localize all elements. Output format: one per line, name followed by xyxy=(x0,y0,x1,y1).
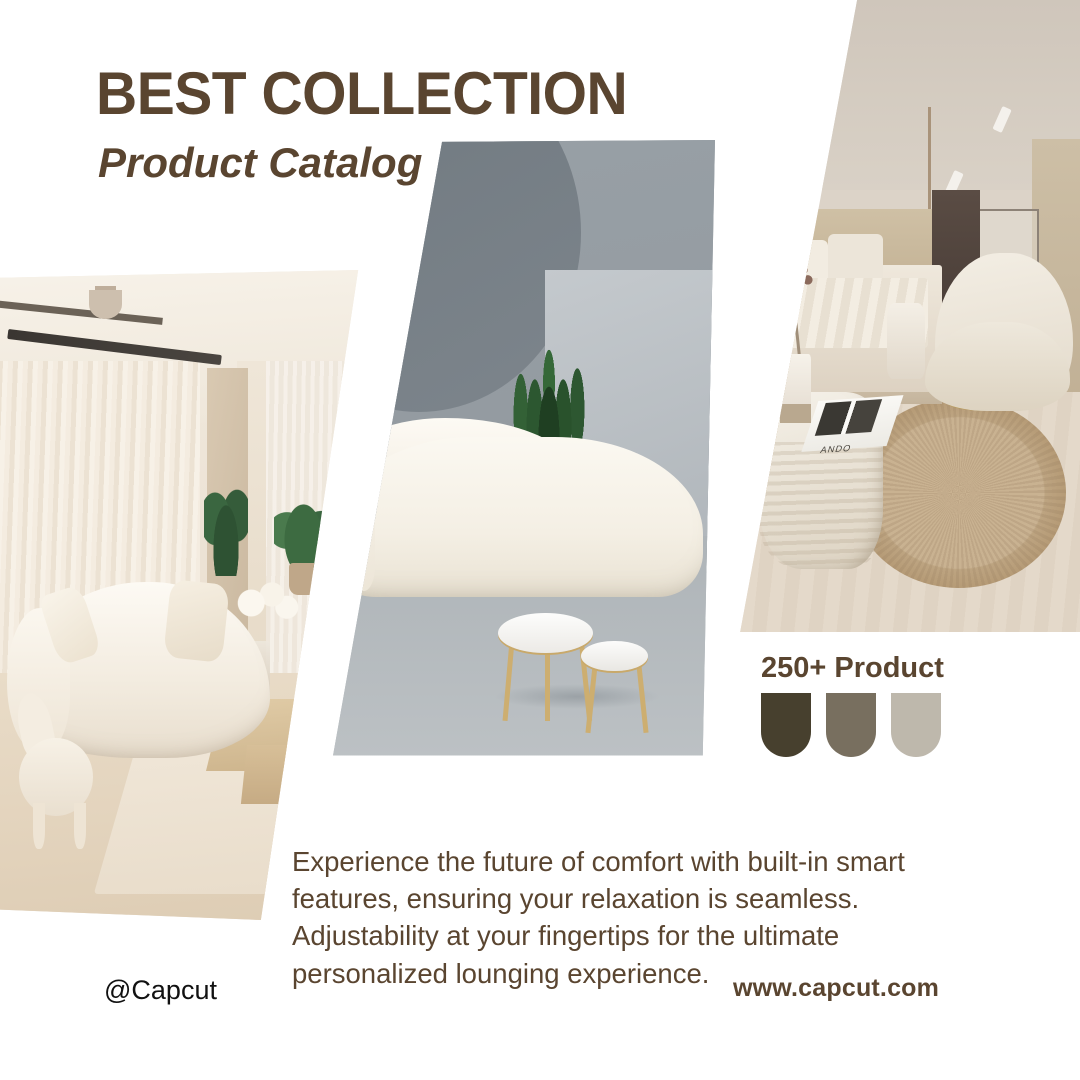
studio-sofa-photo xyxy=(320,140,715,758)
color-swatch-light-greige[interactable] xyxy=(891,693,941,757)
potted-plant xyxy=(274,485,333,576)
studio-sofa-scene xyxy=(320,140,715,758)
marble-side-table-small xyxy=(581,641,648,672)
page-title: BEST COLLECTION xyxy=(96,64,627,124)
poster-canvas: BEST COLLECTION Product Catalog xyxy=(0,0,1080,1080)
cushion-right xyxy=(163,579,230,663)
sofa-arm xyxy=(320,468,375,592)
bed-pillow xyxy=(828,234,883,285)
bedroom-photo: ANDO xyxy=(735,0,1080,632)
pendant-lamp xyxy=(89,290,122,319)
dried-flower-buds xyxy=(783,259,814,297)
marble-side-table-large xyxy=(498,613,593,653)
color-swatch-taupe[interactable] xyxy=(826,693,876,757)
bedroom-ceiling xyxy=(735,0,1080,190)
bedroom-scene: ANDO xyxy=(735,0,1080,632)
product-count-block: 250+ Product xyxy=(761,652,944,757)
round-pouf xyxy=(320,548,363,604)
website-url[interactable]: www.capcut.com xyxy=(733,974,939,1003)
product-count-label: 250+ Product xyxy=(761,652,944,685)
ceramic-side-stool xyxy=(887,303,925,379)
floor-shadow xyxy=(494,684,660,709)
living-room-scene xyxy=(0,270,370,920)
stool-leg xyxy=(74,803,86,849)
social-handle: @Capcut xyxy=(104,975,217,1006)
dark-cup xyxy=(318,699,337,725)
wood-bowl xyxy=(311,641,348,667)
color-swatch-dark-olive[interactable] xyxy=(761,693,811,757)
stool-leg xyxy=(33,803,45,849)
cream-curved-sofa xyxy=(324,437,703,598)
page-subtitle: Product Catalog xyxy=(98,142,422,184)
description-paragraph: Experience the future of comfort with bu… xyxy=(292,843,962,993)
book-title-label: ANDO xyxy=(819,443,853,455)
monstera-plant xyxy=(204,472,248,576)
wood-bench-front xyxy=(241,745,336,804)
stone-table-texture xyxy=(759,442,883,568)
living-room-photo xyxy=(0,270,370,920)
color-swatch-group xyxy=(761,693,944,757)
vase-band xyxy=(780,404,811,423)
